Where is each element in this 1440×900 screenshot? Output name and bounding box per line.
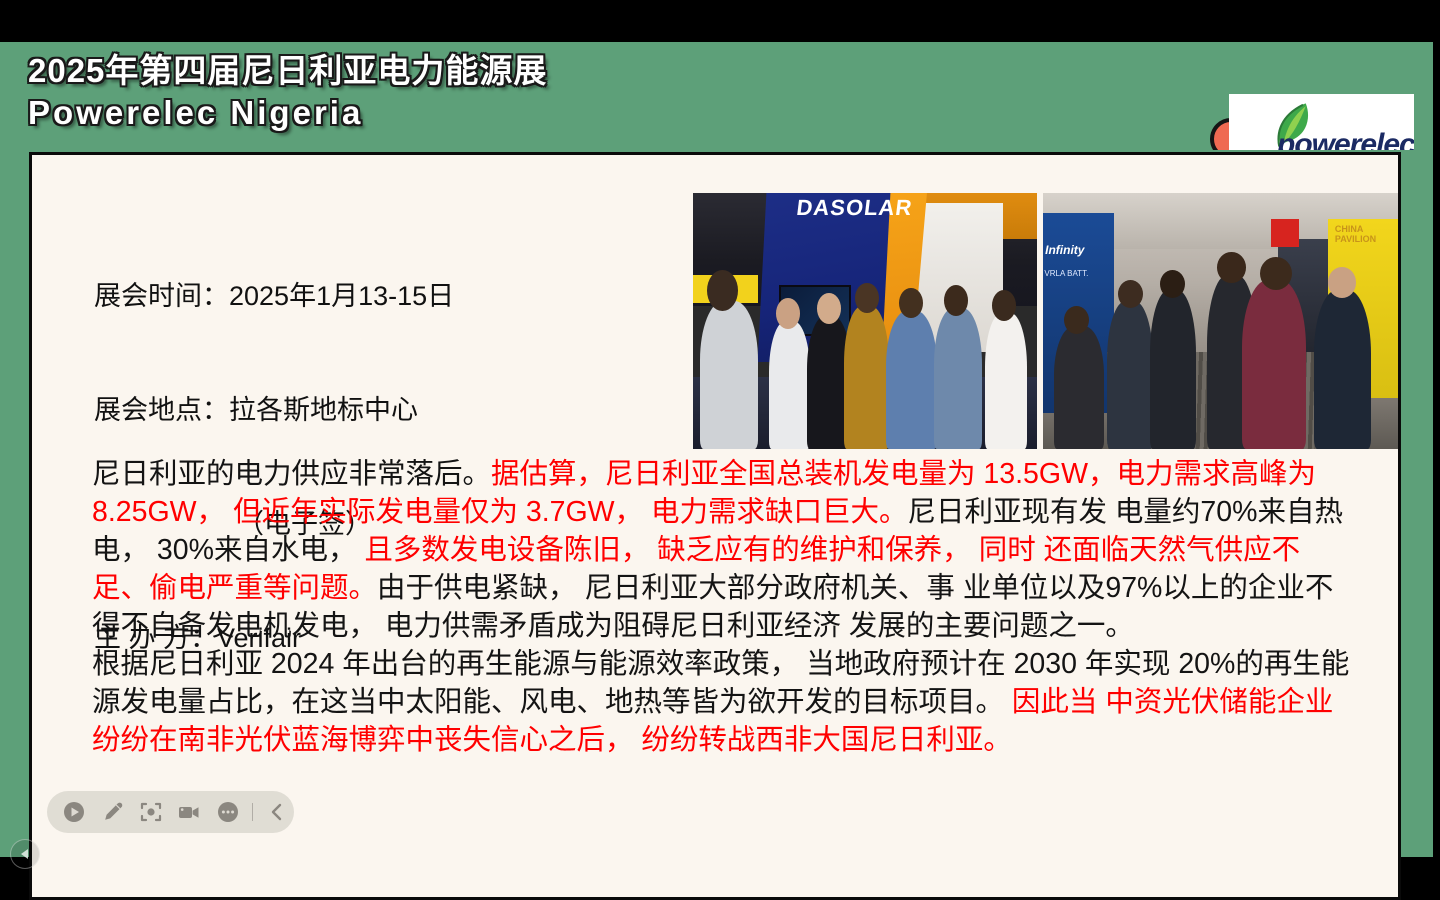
- body-text: 尼日利亚的电力供应非常落后。据估算，尼日利亚全国总装机发电量为 13.5GW，电…: [92, 455, 1354, 759]
- photo-a-person: [700, 301, 758, 449]
- ellipsis-circle-icon: [217, 801, 239, 823]
- slide-viewer: 2025年第四届尼日利亚电力能源展 Powerelec Nigeria powe…: [0, 0, 1440, 900]
- chevron-left-icon: [267, 802, 287, 822]
- pen-button[interactable]: [95, 794, 129, 830]
- photo-b-person: [1314, 290, 1371, 449]
- photo-b-person: [1118, 280, 1143, 308]
- photo-b-person: [1217, 252, 1245, 283]
- header-title-block: 2025年第四届尼日利亚电力能源展 Powerelec Nigeria: [28, 50, 547, 134]
- page-title-cn: 2025年第四届尼日利亚电力能源展: [28, 50, 547, 92]
- photo-a-brand-text: DASOLAR: [795, 195, 914, 221]
- photo-a-person: [934, 308, 982, 449]
- photo-a-person: [707, 270, 738, 311]
- play-button[interactable]: [57, 794, 91, 830]
- presentation-toolbar[interactable]: [47, 791, 294, 833]
- slide-content: 展会时间：2025年1月13-15日 展会地点：拉各斯地标中心 （电子签） 主 …: [32, 155, 1398, 897]
- focus-target-icon: [140, 801, 162, 823]
- page-title-en: Powerelec Nigeria: [28, 92, 547, 134]
- body-paragraph-1: 尼日利亚的电力供应非常落后。据估算，尼日利亚全国总装机发电量为 13.5GW，电…: [92, 455, 1354, 645]
- photo-a-person: [944, 285, 968, 316]
- photo-exhibition-booth: DASOLAR: [693, 193, 1037, 449]
- slide-page: 2025年第四届尼日利亚电力能源展 Powerelec Nigeria powe…: [0, 42, 1433, 857]
- photo-b-booth-sub: VRLA BATT.: [1044, 269, 1088, 279]
- event-venue-row: 展会地点：拉各斯地标中心: [94, 391, 454, 429]
- photo-a-person: [985, 313, 1026, 449]
- photo-a-person: [844, 306, 889, 449]
- photo-a-person: [817, 293, 841, 324]
- photo-a-person: [769, 321, 810, 449]
- photo-b-person: [1064, 306, 1089, 334]
- pen-icon: [102, 801, 124, 823]
- powerelec-logo: powerelec Nigeria: [1229, 94, 1414, 150]
- collapse-toolbar-button[interactable]: [260, 794, 294, 830]
- video-camera-icon: [177, 801, 201, 823]
- play-circle-icon: [63, 801, 85, 823]
- photo-b-person: [1328, 267, 1356, 298]
- slide-header: 2025年第四届尼日利亚电力能源展 Powerelec Nigeria powe…: [0, 42, 1433, 150]
- previous-slide-button[interactable]: [10, 839, 40, 869]
- triangle-left-icon: [19, 848, 31, 860]
- event-date-row: 展会时间：2025年1月13-15日: [94, 277, 454, 315]
- laser-pointer-button[interactable]: [134, 794, 168, 830]
- photo-a-person: [855, 283, 879, 314]
- body-paragraph-2: 根据尼日利亚 2024 年出台的再生能源与能源效率政策， 当地政府预计在 203…: [92, 645, 1354, 759]
- photo-b-china-flag-icon: [1271, 219, 1299, 247]
- photo-b-person: [1150, 290, 1196, 449]
- photo-b-person: [1054, 326, 1104, 449]
- logo-wordmark: powerelec: [1277, 130, 1414, 150]
- photo-b-brand-text: Infinity: [1045, 243, 1084, 257]
- photo-b-person: [1242, 280, 1306, 449]
- photo-a-person: [886, 311, 938, 449]
- photo-b-pavilion-text: CHINA PAVILION: [1335, 224, 1398, 244]
- photo-exhibition-aisle: CHINA PAVILION Infinity VRLA BATT.: [1043, 193, 1398, 449]
- slide-content-frame: 展会时间：2025年1月13-15日 展会地点：拉各斯地标中心 （电子签） 主 …: [29, 152, 1401, 900]
- photo-a-person: [776, 298, 800, 329]
- p1-seg: 尼日利亚的电力供应非常落后。: [92, 458, 491, 490]
- record-button[interactable]: [172, 794, 206, 830]
- more-button[interactable]: [210, 794, 244, 830]
- photo-b-person: [1107, 301, 1153, 449]
- toolbar-separator: [252, 803, 253, 821]
